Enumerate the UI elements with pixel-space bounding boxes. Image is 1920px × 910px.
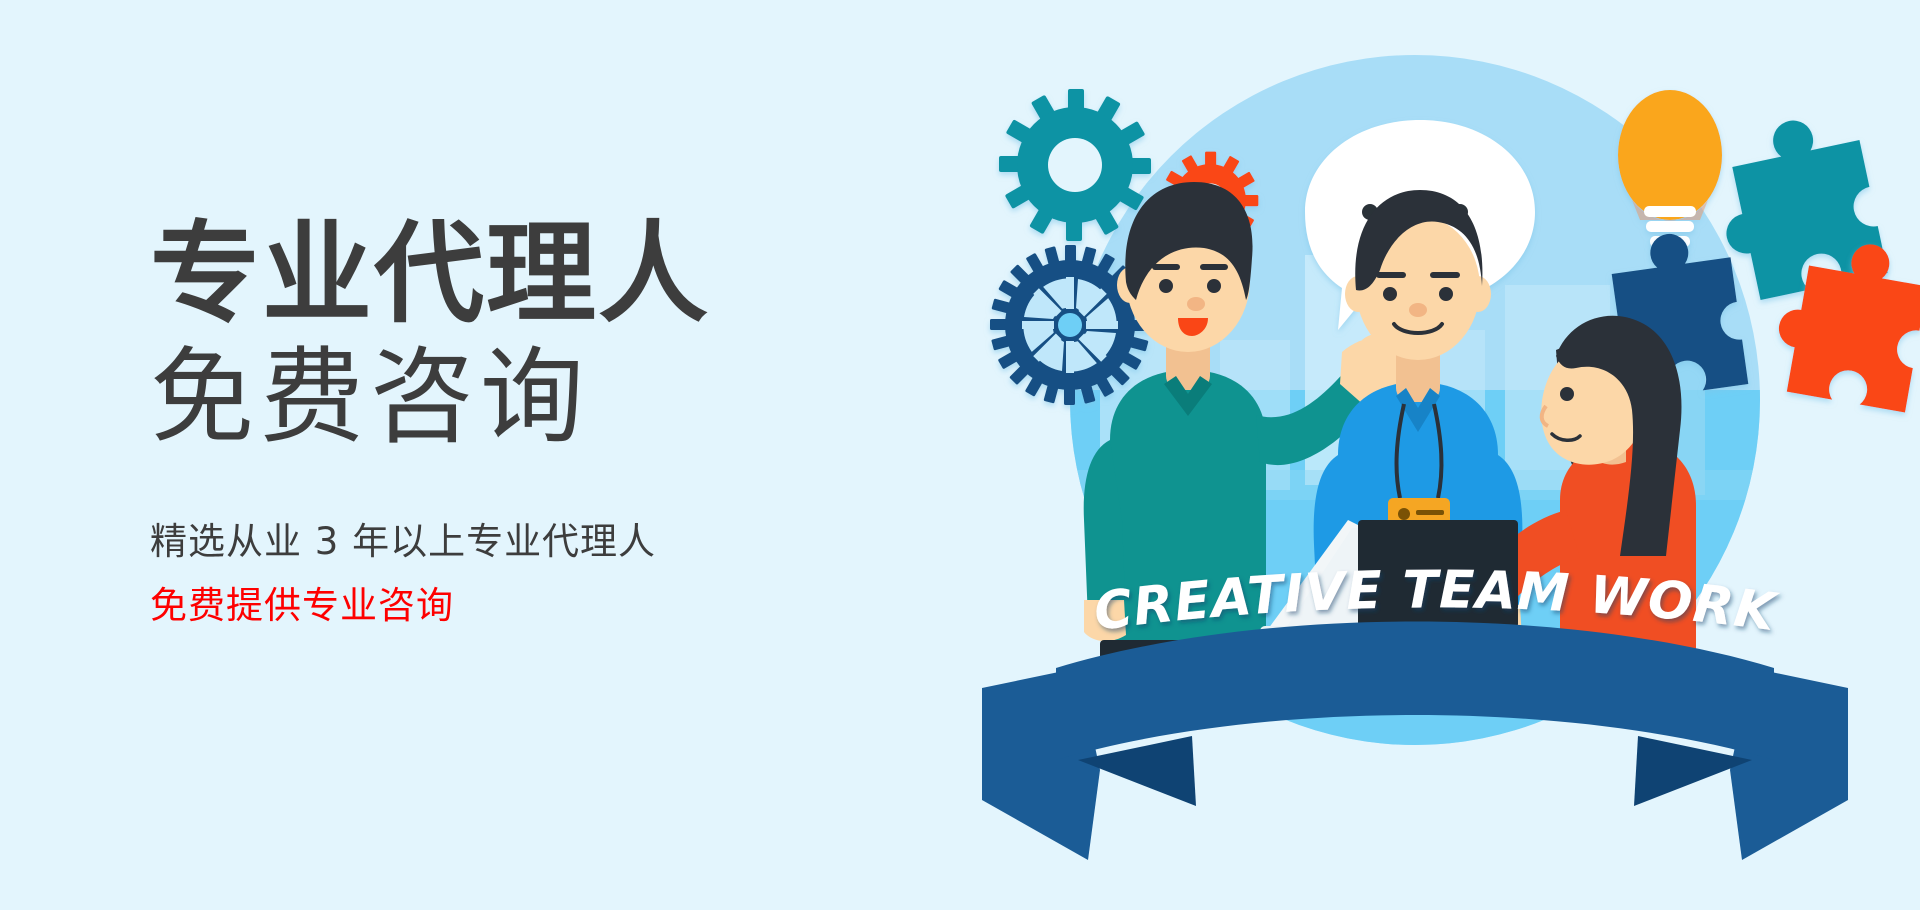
- subtitle-line-1: 精选从业 3 年以上专业代理人: [150, 511, 870, 565]
- marketing-copy: 专业代理人 免费咨询 精选从业 3 年以上专业代理人 免费提供专业咨询: [150, 215, 870, 629]
- promo-banner: 专业代理人 免费咨询 精选从业 3 年以上专业代理人 免费提供专业咨询: [0, 0, 1920, 910]
- page-title-line1: 专业代理人: [150, 215, 870, 334]
- page-title-line2: 免费咨询: [150, 338, 870, 458]
- ribbon-banner: CREATIVE TEAM WORK: [982, 560, 1848, 860]
- teamwork-illustration: CREATIVE TEAM WORK: [960, 0, 1920, 910]
- subtitle-line-2-highlight: 免费提供专业咨询: [150, 575, 870, 629]
